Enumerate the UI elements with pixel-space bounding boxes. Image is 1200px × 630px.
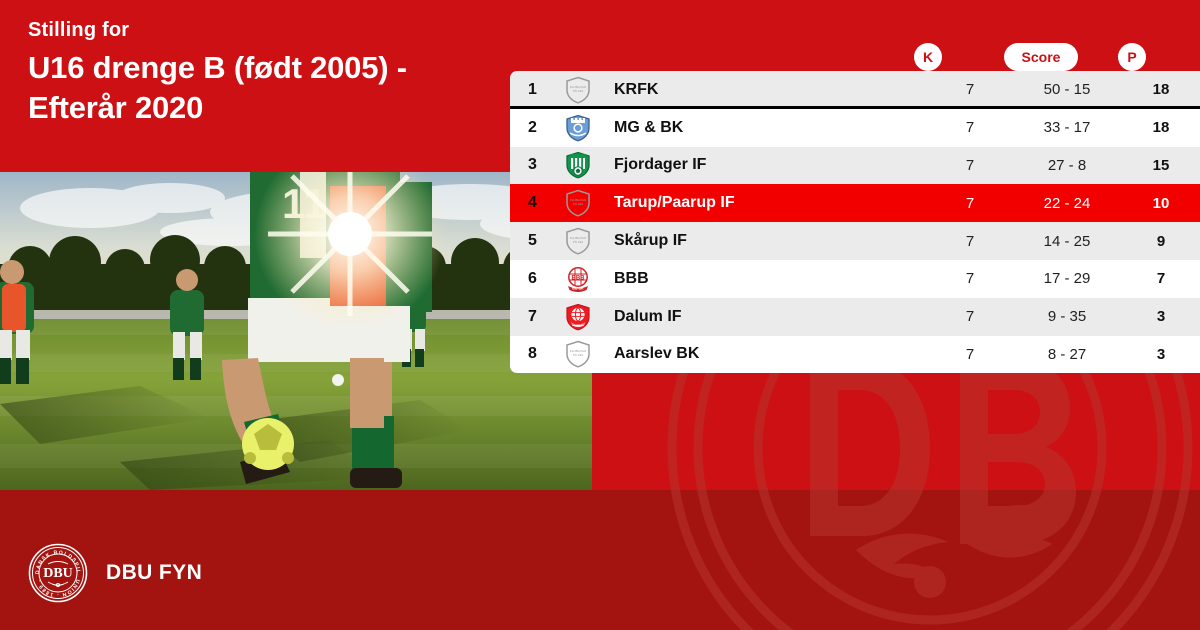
table-row[interactable]: 6 BBB BB BKBBB717 - 297 bbox=[510, 260, 1200, 298]
table-row[interactable]: 8 KLUBLOGO PÅ VEJAarslev BK78 - 273 bbox=[510, 336, 1200, 374]
table-row[interactable]: 3 Fjordager IF727 - 815 bbox=[510, 147, 1200, 185]
row-team-name: Aarslev BK bbox=[600, 345, 928, 363]
table-row[interactable]: 1 KLUBLOGO PÅ VEJKRFK750 - 1518 bbox=[510, 71, 1200, 109]
table-row[interactable]: 4 KLUBLOGO PÅ VEJTarup/Paarup IF722 - 24… bbox=[510, 184, 1200, 222]
green-striped-shield-icon bbox=[556, 151, 600, 179]
row-points: 3 bbox=[1122, 346, 1200, 363]
row-rank: 7 bbox=[510, 308, 556, 326]
placeholder-shield-icon: KLUBLOGO PÅ VEJ bbox=[556, 189, 600, 217]
svg-text:PÅ VEJ: PÅ VEJ bbox=[573, 201, 584, 206]
row-team-name: MG & BK bbox=[600, 119, 928, 137]
row-score: 9 - 35 bbox=[1012, 308, 1122, 325]
table-row[interactable]: 7 DALUM IFDalum IF79 - 353 bbox=[510, 298, 1200, 336]
svg-text:BB BK: BB BK bbox=[572, 286, 584, 290]
row-team-name: Fjordager IF bbox=[600, 156, 928, 174]
row-matches: 7 bbox=[928, 233, 1012, 250]
svg-text:UNION . 1889 .: UNION . 1889 . bbox=[36, 578, 81, 598]
row-team-name: KRFK bbox=[600, 81, 928, 99]
column-header-matches: K bbox=[914, 43, 942, 71]
red-shield-icon: DALUM IF bbox=[556, 303, 600, 331]
row-matches: 7 bbox=[928, 157, 1012, 174]
red-circle-crest-icon: BBB BB BK bbox=[556, 265, 600, 293]
placeholder-shield-icon: KLUBLOGO PÅ VEJ bbox=[556, 227, 600, 255]
row-score: 17 - 29 bbox=[1012, 270, 1122, 287]
column-header-points: P bbox=[1118, 43, 1146, 71]
row-team-name: Tarup/Paarup IF bbox=[600, 194, 928, 212]
row-team-name: Skårup IF bbox=[600, 232, 928, 250]
row-points: 15 bbox=[1122, 157, 1200, 174]
row-score: 8 - 27 bbox=[1012, 346, 1122, 363]
header-kicker: Stilling for bbox=[28, 18, 498, 42]
blue-castle-shield-icon bbox=[556, 114, 600, 142]
row-matches: 7 bbox=[928, 195, 1012, 212]
standings-table: 1 KLUBLOGO PÅ VEJKRFK750 - 15182 MG & BK… bbox=[510, 71, 1200, 373]
row-points: 18 bbox=[1122, 119, 1200, 136]
poster-canvas: D Stilling for U16 drenge B (født 2005) … bbox=[0, 0, 1200, 630]
column-header-score: Score bbox=[1004, 43, 1078, 71]
row-score: 27 - 8 bbox=[1012, 157, 1122, 174]
poster-header: Stilling for U16 drenge B (født 2005) - … bbox=[28, 18, 498, 127]
row-team-name: BBB bbox=[600, 270, 928, 288]
row-team-name: Dalum IF bbox=[600, 308, 928, 326]
row-matches: 7 bbox=[928, 308, 1012, 325]
row-rank: 8 bbox=[510, 345, 556, 363]
football-match-photo: 11 bbox=[0, 172, 592, 490]
row-points: 10 bbox=[1122, 195, 1200, 212]
row-score: 50 - 15 bbox=[1012, 81, 1122, 98]
placeholder-shield-icon: KLUBLOGO PÅ VEJ bbox=[556, 340, 600, 368]
table-row[interactable]: 2 MG & BK733 - 1718 bbox=[510, 109, 1200, 147]
svg-text:DBU: DBU bbox=[43, 566, 73, 581]
svg-text:DALUM IF: DALUM IF bbox=[571, 322, 585, 326]
svg-text:BBB: BBB bbox=[572, 275, 586, 281]
table-row[interactable]: 5 KLUBLOGO PÅ VEJSkårup IF714 - 259 bbox=[510, 222, 1200, 260]
row-matches: 7 bbox=[928, 119, 1012, 136]
row-rank: 4 bbox=[510, 194, 556, 212]
row-points: 9 bbox=[1122, 233, 1200, 250]
row-score: 33 - 17 bbox=[1012, 119, 1122, 136]
svg-text:PÅ VEJ: PÅ VEJ bbox=[573, 239, 584, 244]
row-matches: 7 bbox=[928, 81, 1012, 98]
svg-text:PÅ VEJ: PÅ VEJ bbox=[573, 352, 584, 357]
svg-text:PÅ VEJ: PÅ VEJ bbox=[573, 88, 584, 93]
row-matches: 7 bbox=[928, 270, 1012, 287]
row-rank: 2 bbox=[510, 119, 556, 137]
row-points: 18 bbox=[1122, 81, 1200, 98]
placeholder-shield-icon: KLUBLOGO PÅ VEJ bbox=[556, 76, 600, 104]
row-score: 14 - 25 bbox=[1012, 233, 1122, 250]
row-rank: 1 bbox=[510, 81, 556, 99]
dbu-seal-icon: DANSK BOLDSPIL UNION . 1889 . DBU bbox=[28, 543, 88, 603]
footer: DANSK BOLDSPIL UNION . 1889 . DBU DBU FY… bbox=[28, 543, 202, 603]
row-rank: 5 bbox=[510, 232, 556, 250]
row-rank: 6 bbox=[510, 270, 556, 288]
row-matches: 7 bbox=[928, 346, 1012, 363]
row-points: 7 bbox=[1122, 270, 1200, 287]
table-column-headers: K Score P bbox=[510, 43, 1200, 71]
row-score: 22 - 24 bbox=[1012, 195, 1122, 212]
page-title: U16 drenge B (født 2005) - Efterår 2020 bbox=[28, 48, 498, 127]
footer-org-label: DBU FYN bbox=[106, 561, 202, 585]
row-rank: 3 bbox=[510, 156, 556, 174]
row-points: 3 bbox=[1122, 308, 1200, 325]
